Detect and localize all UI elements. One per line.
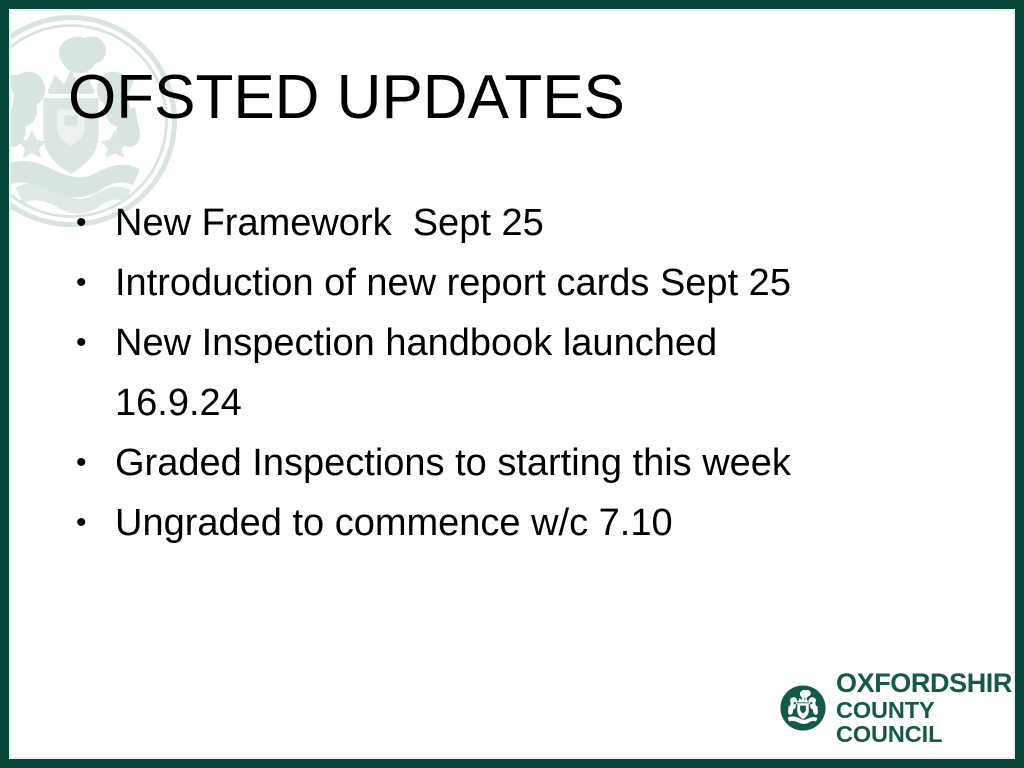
logo-line-county-council: COUNTY COUNCIL: [836, 699, 1013, 746]
list-item-label: Graded Inspections to starting this week: [115, 433, 968, 493]
list-item: • New Inspection handbook launched 16.9.…: [68, 313, 968, 433]
list-item-label: Introduction of new report cards Sept 25: [115, 253, 968, 313]
list-item-label: New Inspection handbook launched 16.9.24: [115, 313, 968, 433]
oxfordshire-county-council-logo: OXFORDSHIRE COUNTY COUNCIL: [779, 679, 994, 737]
oxfordshire-crest-icon: [779, 684, 827, 732]
list-item: • Ungraded to commence w/c 7.10: [68, 493, 968, 553]
bullet-list: • New Framework Sept 25 • Introduction o…: [68, 193, 968, 553]
list-item: • Introduction of new report cards Sept …: [68, 253, 968, 313]
list-item-label: Ungraded to commence w/c 7.10: [115, 493, 968, 553]
page-title: OFSTED UPDATES: [68, 63, 948, 133]
slide: OFSTED UPDATES • New Framework Sept 25 •…: [0, 0, 1024, 768]
bullet-marker-icon: •: [76, 433, 96, 493]
list-item-label: New Framework Sept 25: [115, 193, 968, 253]
logo-line-oxfordshire: OXFORDSHIRE: [836, 670, 1013, 697]
bullet-marker-icon: •: [76, 313, 96, 373]
bullet-marker-icon: •: [76, 193, 96, 253]
slide-canvas: OFSTED UPDATES • New Framework Sept 25 •…: [11, 11, 1013, 757]
list-item: • Graded Inspections to starting this we…: [68, 433, 968, 493]
bullet-marker-icon: •: [76, 493, 96, 553]
bullet-marker-icon: •: [76, 253, 96, 313]
logo-wordmark: OXFORDSHIRE COUNTY COUNCIL: [836, 670, 1013, 746]
list-item: • New Framework Sept 25: [68, 193, 968, 253]
